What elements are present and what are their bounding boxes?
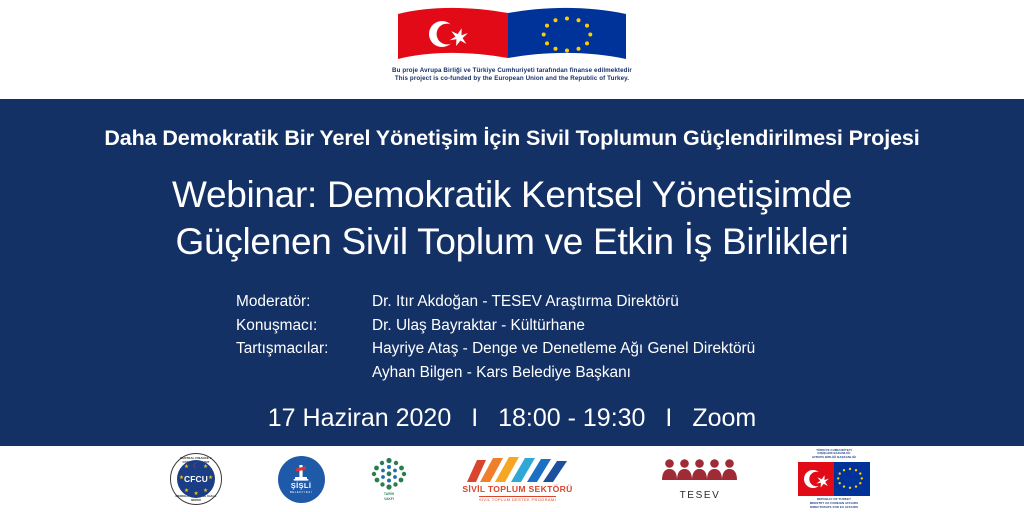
star-icon: ★ [194,492,199,497]
sts-title: SİVİL TOPLUM SEKTÖRÜ [462,485,572,494]
cfcu-outer-ring: CENTRAL FINANCE & CONTRACTS UNIT MERKEZİ… [170,453,222,505]
ministry-text-bottom: REPUBLIC OF TURKEY MINISTRY OF FOREIGN A… [810,498,858,509]
datetime-separator-1: I [458,404,491,433]
sisli-subtitle: BELEDİYESİ [290,491,312,494]
funding-statement-tr: Bu proje Avrupa Birliği ve Türkiye Cumhu… [392,67,632,75]
crescent-icon: ☾ [193,463,199,470]
star-icon: ★ [208,476,213,481]
event-platform: Zoom [692,404,756,432]
event-date: 17 Haziran 2020 [268,404,451,432]
participant-name: Ayhan Bilgen - Kars Belediye Başkanı [372,361,631,385]
star-icon: ★ [184,489,189,494]
participant-name: Dr. Ulaş Bayraktar - Kültürhane [372,314,585,338]
tarih-vakfi-logo: TARİH VAKFI [348,446,430,512]
rosette-icon [370,457,408,490]
participant-row-speaker: Konuşmacı: Dr. Ulaş Bayraktar - Kültürha… [236,314,755,338]
webinar-headline: Webinar: Demokratik Kentsel Yönetişimde … [0,171,1024,266]
participant-row-discussant-2: Tartışmacılar: Ayhan Bilgen - Kars Beled… [236,361,755,385]
flag-pair-graphic [390,6,634,66]
eu-funding-banner: Bu proje Avrupa Birliği ve Türkiye Cumhu… [0,0,1024,99]
funding-statement-en: This project is co-funded by the Europea… [392,75,632,83]
cfcu-acronym: CFCU [184,474,208,484]
star-icon: ★ [203,489,208,494]
participant-role-label: Tartışmacılar: [236,337,372,361]
participant-role-label: Moderatör: [236,290,372,314]
tesev-logo: TESEV [645,446,755,512]
sts-subtitle: SİVİL TOPLUM DESTEK PROGRAMI [479,496,556,503]
event-time: 18:00 - 19:30 [498,404,645,432]
project-title: Daha Demokratik Bir Yerel Yönetişim İçin… [0,126,1024,151]
participant-row-moderator: Moderatör: Dr. Itır Akdoğan - TESEV Araş… [236,290,755,314]
star-icon: ★ [203,465,208,470]
chevron-bars-icon [463,456,573,482]
webinar-poster: Bu proje Avrupa Birliği ve Türkiye Cumhu… [0,0,1024,512]
monument-icon [290,464,312,481]
event-datetime-line: 17 Haziran 2020 I 18:00 - 19:30 I Zoom [0,404,1024,433]
cfcu-core-disc: ☾ CFCU ★ ★ ★ ★ ★ ★ ★ [177,460,215,498]
participant-name: Hayriye Ataş - Denge ve Denetleme Ağı Ge… [372,337,755,361]
headline-line-1: Webinar: Demokratik Kentsel Yönetişimde [0,171,1024,218]
headline-line-2: Güçlenen Sivil Toplum ve Etkin İş Birlik… [0,218,1024,265]
sisli-title: ŞİŞLİ [291,482,312,490]
people-group-icon [661,458,739,488]
tarih-vakfi-text: TARİH VAKFI [384,492,394,501]
eu-turkey-flag-pair [390,6,634,66]
main-panel: Daha Demokratik Bir Yerel Yönetişim İçin… [0,99,1024,446]
funding-statement: Bu proje Avrupa Birliği ve Türkiye Cumhu… [392,67,632,83]
star-icon: ★ [184,465,189,470]
sisli-belediyesi-logo: ŞİŞLİ BELEDİYESİ [262,446,340,512]
tesev-title: TESEV [680,491,721,501]
turkey-eu-flag-icon [798,462,870,496]
ministry-text-top: TÜRKİYE CUMHURİYETİ DIŞİŞLERİ BAKANLIĞI … [812,449,856,460]
cfcu-logo: CENTRAL FINANCE & CONTRACTS UNIT MERKEZİ… [144,446,248,512]
sisli-circle: ŞİŞLİ BELEDİYESİ [278,456,325,503]
avrupa-birligi-bakanligi-logo: TÜRKİYE CUMHURİYETİ DIŞİŞLERİ BAKANLIĞI … [779,446,889,512]
participant-name: Dr. Itır Akdoğan - TESEV Araştırma Direk… [372,290,679,314]
datetime-separator-2: I [652,404,685,433]
partner-logos-strip: CENTRAL FINANCE & CONTRACTS UNIT MERKEZİ… [0,446,1024,512]
sivil-toplum-sektoru-logo: SİVİL TOPLUM SEKTÖRÜ SİVİL TOPLUM DESTEK… [455,446,580,512]
participant-role-label: Konuşmacı: [236,314,372,338]
participants-list: Moderatör: Dr. Itır Akdoğan - TESEV Araş… [236,290,755,384]
participant-row-discussant-1: Tartışmacılar: Hayriye Ataş - Denge ve D… [236,337,755,361]
